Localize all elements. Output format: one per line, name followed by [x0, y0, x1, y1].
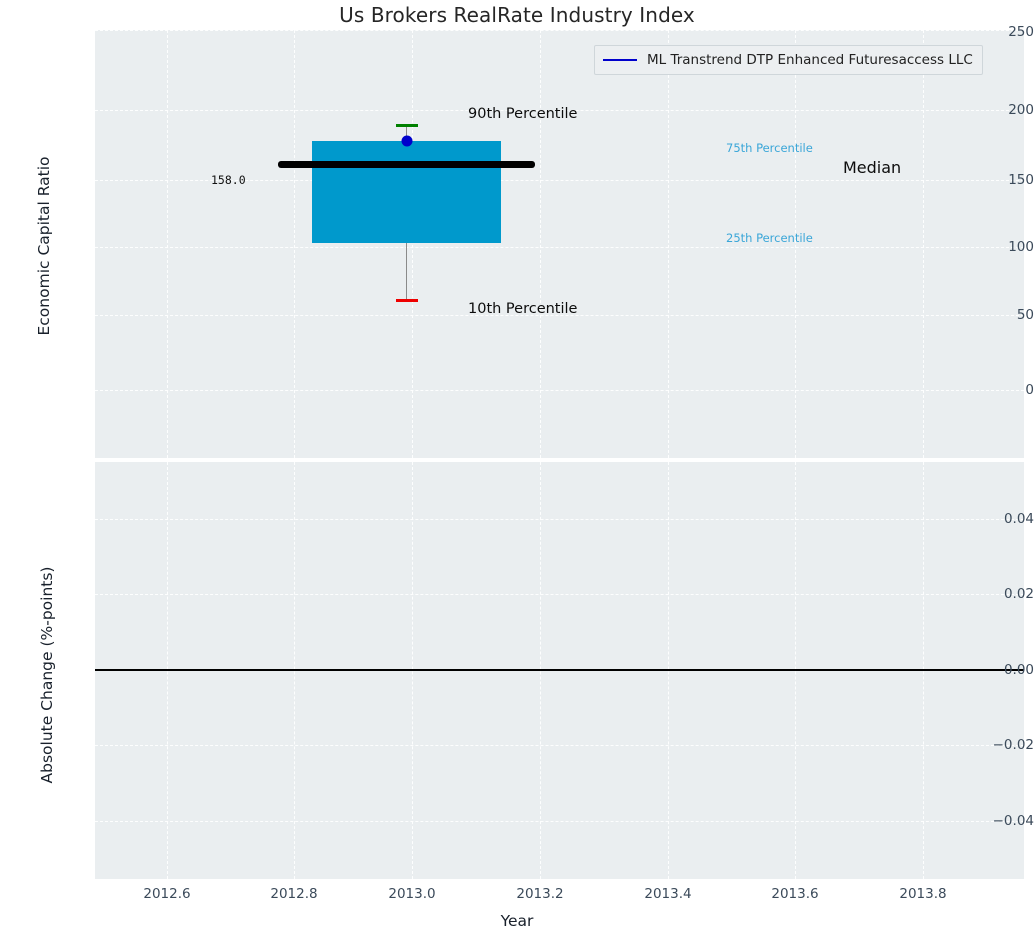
annotation-25th-percentile: 25th Percentile — [726, 231, 813, 245]
gridline-horizontal — [95, 821, 1024, 822]
series-point-marker[interactable] — [402, 136, 413, 147]
panel-economic-capital-ratio: 158.0 90th Percentile 75th Percentile Me… — [95, 30, 1024, 458]
annotation-75th-percentile: 75th Percentile — [726, 141, 813, 155]
annotation-median: Median — [843, 158, 901, 177]
ytick-label-bottom: −0.04 — [948, 813, 1034, 829]
ytick-label-bottom: −0.02 — [948, 737, 1034, 753]
gridline-horizontal — [95, 247, 1024, 248]
ytick-label-top: 50 — [948, 307, 1034, 323]
iqr-box — [312, 141, 501, 243]
panel-absolute-change — [95, 462, 1024, 879]
x-axis-label: Year — [0, 912, 1034, 930]
median-line — [278, 161, 535, 168]
gridline-vertical — [412, 30, 413, 458]
ytick-label-bottom: 0.02 — [948, 586, 1034, 602]
xtick-label: 2013.8 — [899, 886, 946, 902]
gridline-horizontal — [95, 30, 1024, 31]
annotation-90th-percentile: 90th Percentile — [468, 106, 577, 122]
gridline-vertical — [167, 30, 168, 458]
percentile-90-cap — [396, 124, 418, 127]
legend-entry-label: ML Transtrend DTP Enhanced Futuresaccess… — [647, 52, 973, 68]
gridline-horizontal — [95, 519, 1024, 520]
gridline-vertical — [294, 30, 295, 458]
median-value-label: 158.0 — [211, 173, 246, 187]
ytick-label-top: 100 — [948, 239, 1034, 255]
y-axis-label-bottom: Absolute Change (%-points) — [38, 510, 56, 840]
legend-line-swatch — [603, 59, 637, 61]
xtick-label: 2012.6 — [143, 886, 190, 902]
ytick-label-bottom: 0.00 — [948, 662, 1034, 678]
gridline-horizontal — [95, 390, 1024, 391]
xtick-label: 2013.2 — [516, 886, 563, 902]
xtick-label: 2013.6 — [771, 886, 818, 902]
gridline-horizontal — [95, 745, 1024, 746]
y-axis-label-top: Economic Capital Ratio — [35, 116, 53, 376]
gridline-vertical — [540, 30, 541, 458]
figure-canvas: Us Brokers RealRate Industry Index 158.0 — [0, 0, 1034, 942]
legend[interactable]: ML Transtrend DTP Enhanced Futuresaccess… — [594, 45, 983, 75]
ytick-label-bottom: 0.04 — [948, 511, 1034, 527]
xtick-label: 2012.8 — [270, 886, 317, 902]
ytick-label-top: 0 — [948, 382, 1034, 398]
ytick-label-top: 150 — [948, 172, 1034, 188]
gridline-vertical — [923, 30, 924, 458]
zero-reference-line — [95, 669, 1024, 671]
gridline-vertical — [668, 30, 669, 458]
annotation-10th-percentile: 10th Percentile — [468, 301, 577, 317]
ytick-label-top: 200 — [948, 102, 1034, 118]
ytick-label-top: 250 — [948, 24, 1034, 40]
percentile-10-cap — [396, 299, 418, 302]
chart-title: Us Brokers RealRate Industry Index — [0, 3, 1034, 27]
xtick-label: 2013.0 — [388, 886, 435, 902]
gridline-horizontal — [95, 594, 1024, 595]
xtick-label: 2013.4 — [644, 886, 691, 902]
